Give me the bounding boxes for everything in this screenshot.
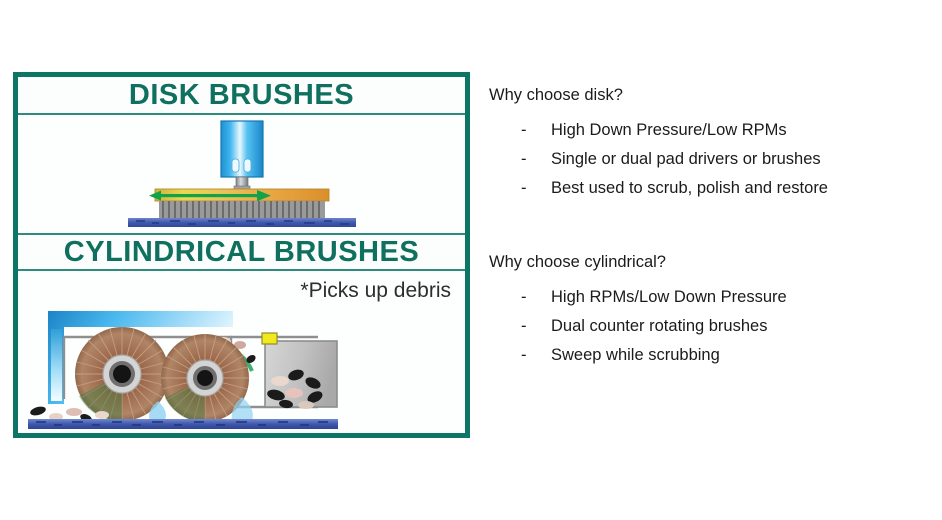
- bullet-dash-icon: -: [489, 120, 551, 141]
- floor-surface: [128, 218, 356, 227]
- bullet-text: Best used to scrub, polish and restore: [551, 178, 919, 199]
- bullet-dash-icon: -: [489, 345, 551, 366]
- list-item: - High Down Pressure/Low RPMs: [489, 120, 919, 141]
- drive-shaft: [234, 177, 250, 190]
- cylindrical-text-section: Why choose cylindrical? - High RPMs/Low …: [489, 252, 919, 366]
- disk-text-section: Why choose disk? - High Down Pressure/Lo…: [489, 85, 919, 199]
- floor-surface: [28, 419, 338, 429]
- list-item: - High RPMs/Low Down Pressure: [489, 287, 919, 308]
- picks-up-debris-note: *Picks up debris: [300, 279, 451, 303]
- cylindrical-brushes-title: CYLINDRICAL BRUSHES: [64, 236, 419, 269]
- disk-brushes-title: DISK BRUSHES: [129, 79, 354, 112]
- disk-bullet-list: - High Down Pressure/Low RPMs - Single o…: [489, 120, 919, 199]
- brush-bristles: [159, 201, 325, 218]
- disk-section-question: Why choose disk?: [489, 85, 919, 105]
- hopper-latch: [262, 333, 277, 344]
- bullet-dash-icon: -: [489, 178, 551, 199]
- disk-brush-illustration: [18, 115, 465, 233]
- bullet-text: Single or dual pad drivers or brushes: [551, 149, 919, 170]
- cylindrical-section-question: Why choose cylindrical?: [489, 252, 919, 272]
- bullet-dash-icon: -: [489, 149, 551, 170]
- bullet-dash-icon: -: [489, 287, 551, 308]
- brush-comparison-diagram: DISK BRUSHES: [13, 72, 470, 438]
- list-item: - Dual counter rotating brushes: [489, 316, 919, 337]
- list-item: - Best used to scrub, polish and restore: [489, 178, 919, 199]
- bullet-dash-icon: -: [489, 316, 551, 337]
- bullet-text: Sweep while scrubbing: [551, 345, 919, 366]
- disk-brush-art-stage: [18, 115, 465, 233]
- cylindrical-bullet-list: - High RPMs/Low Down Pressure - Dual cou…: [489, 287, 919, 366]
- text-column: Why choose disk? - High Down Pressure/Lo…: [489, 85, 919, 374]
- bullet-text: High RPMs/Low Down Pressure: [551, 287, 919, 308]
- cylindrical-brush-art-stage: *Picks up debris: [18, 271, 465, 433]
- bullet-text: High Down Pressure/Low RPMs: [551, 120, 919, 141]
- motor-housing: [221, 121, 263, 177]
- bullet-text: Dual counter rotating brushes: [551, 316, 919, 337]
- disk-brushes-header: DISK BRUSHES: [18, 77, 465, 115]
- list-item: - Sweep while scrubbing: [489, 345, 919, 366]
- slide-canvas: DISK BRUSHES: [0, 0, 942, 520]
- list-item: - Single or dual pad drivers or brushes: [489, 149, 919, 170]
- cylindrical-brushes-header: CYLINDRICAL BRUSHES: [18, 233, 465, 271]
